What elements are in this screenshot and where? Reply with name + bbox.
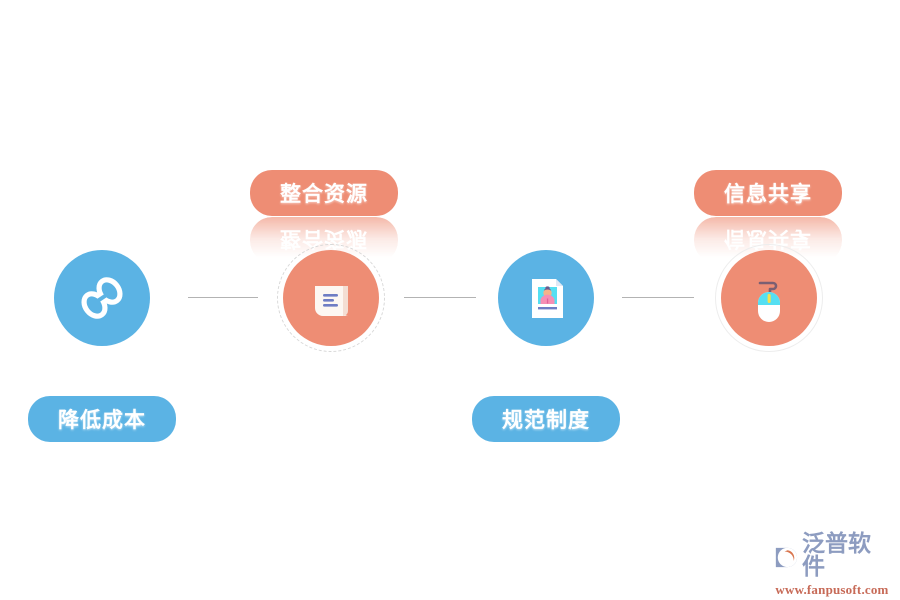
id-card-document-icon — [498, 250, 594, 346]
scroll-document-icon — [283, 250, 379, 346]
step-node-3[interactable] — [498, 250, 594, 346]
fanpu-logo-mark-icon — [772, 543, 799, 570]
watermark-logo: 泛普软件 www.fanpusoft.com — [772, 533, 892, 589]
step-label-2: 整合资源 — [280, 178, 368, 208]
step-badge-4[interactable]: 信息共享 — [694, 170, 842, 216]
step-label-1: 降低成本 — [58, 404, 146, 434]
step-badge-3[interactable]: 规范制度 — [472, 396, 620, 442]
step-node-4[interactable] — [721, 250, 817, 346]
connector-line-2-3 — [404, 297, 476, 298]
computer-mouse-icon — [721, 250, 817, 346]
step-node-1[interactable] — [54, 250, 150, 346]
step-badge-2[interactable]: 整合资源 — [250, 170, 398, 216]
connector-line-1-2 — [188, 297, 258, 298]
connector-line-3-4 — [622, 297, 694, 298]
diagram-canvas: 降低成本 整合资源 整合资源 — [0, 0, 900, 600]
step-node-2[interactable] — [283, 250, 379, 346]
logo-brand-name: 泛普软件 — [802, 533, 892, 579]
step-badge-1[interactable]: 降低成本 — [28, 396, 176, 442]
step-label-3: 规范制度 — [502, 404, 590, 434]
step-label-4: 信息共享 — [724, 178, 812, 208]
logo-brand-row: 泛普软件 — [772, 533, 892, 579]
chain-link-icon — [54, 250, 150, 346]
logo-url: www.fanpusoft.com — [772, 582, 892, 598]
